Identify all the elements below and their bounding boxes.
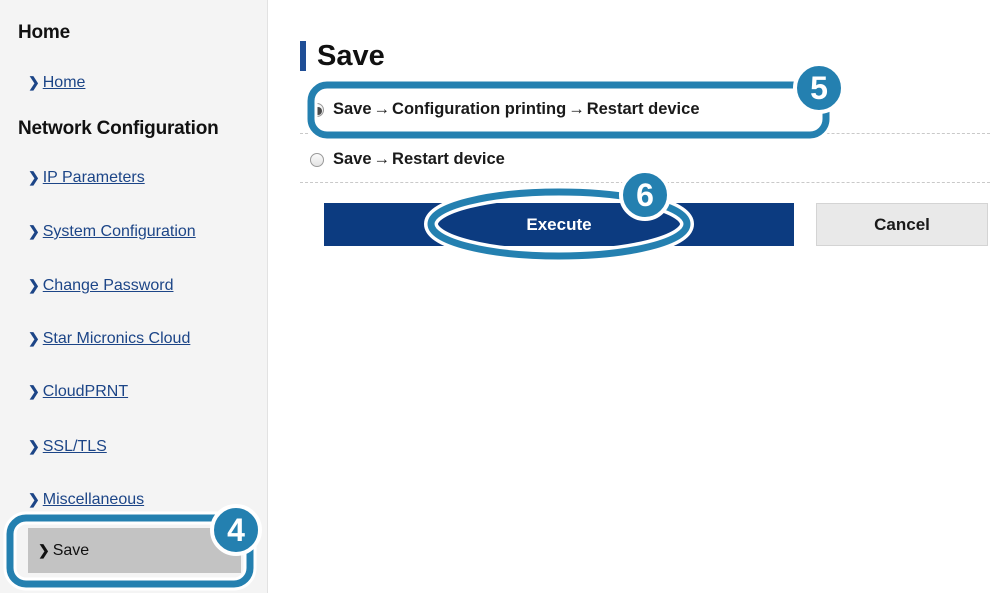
- radio-button-icon[interactable]: [310, 103, 324, 117]
- sidebar-item-label: SSL/TLS: [43, 438, 107, 455]
- sidebar-item-label: Save: [53, 542, 89, 559]
- row-separator: [300, 133, 990, 134]
- sidebar-item-label: Change Password: [43, 277, 174, 294]
- radio-option-save-config-restart[interactable]: Save→Configuration printing→Restart devi…: [310, 100, 700, 119]
- radio-label-part: Restart device: [587, 100, 700, 118]
- sidebar-item-label: System Configuration: [43, 223, 196, 240]
- radio-label-part: Save: [333, 100, 372, 118]
- execute-button[interactable]: Execute: [324, 203, 794, 246]
- arrow-right-icon: →: [372, 150, 393, 168]
- arrow-right-icon: →: [372, 100, 393, 118]
- step-badge-4: 4: [210, 504, 262, 556]
- sidebar-item-ssl-tls[interactable]: ❯SSL/TLS: [28, 436, 107, 457]
- sidebar-heading-home: Home: [18, 22, 70, 44]
- sidebar-item-label: CloudPRNT: [43, 383, 128, 400]
- step-badge-6: 6: [619, 169, 671, 221]
- cancel-button[interactable]: Cancel: [816, 203, 988, 246]
- chevron-right-icon: ❯: [28, 221, 40, 241]
- sidebar-item-star-micronics-cloud[interactable]: ❯Star Micronics Cloud: [28, 328, 190, 349]
- main-content: Save Save→Configuration printing→Restart…: [268, 0, 1000, 593]
- radio-option-save-restart[interactable]: Save→Restart device: [310, 150, 505, 169]
- sidebar-item-system-configuration[interactable]: ❯System Configuration: [28, 221, 196, 242]
- chevron-right-icon: ❯: [28, 436, 40, 456]
- sidebar-item-change-password[interactable]: ❯Change Password: [28, 275, 173, 296]
- step-badge-5: 5: [793, 62, 845, 114]
- arrow-right-icon: →: [566, 100, 587, 118]
- sidebar-item-label: Star Micronics Cloud: [43, 330, 191, 347]
- sidebar-item-cloudprnt[interactable]: ❯CloudPRNT: [28, 381, 128, 402]
- radio-label-part: Restart device: [392, 150, 505, 168]
- page-title-wrap: Save: [300, 22, 385, 91]
- printer-web-config-page: Home ❯Home Network Configuration ❯IP Par…: [0, 0, 1000, 593]
- sidebar-item-label: IP Parameters: [43, 169, 145, 186]
- sidebar-item-ip-parameters[interactable]: ❯IP Parameters: [28, 167, 145, 188]
- chevron-right-icon: ❯: [28, 167, 40, 187]
- radio-label-part: Save: [333, 150, 372, 168]
- chevron-right-icon: ❯: [28, 328, 40, 348]
- radio-option-label: Save→Configuration printing→Restart devi…: [333, 100, 700, 119]
- chevron-right-icon: ❯: [28, 72, 40, 92]
- sidebar-item-miscellaneous[interactable]: ❯Miscellaneous: [28, 489, 144, 510]
- sidebar-item-home[interactable]: ❯Home: [28, 72, 85, 93]
- sidebar-item-label: Home: [43, 74, 86, 91]
- page-title: Save: [317, 41, 385, 71]
- title-accent-bar: [300, 41, 306, 71]
- radio-label-part: Configuration printing: [392, 100, 566, 118]
- radio-option-label: Save→Restart device: [333, 150, 505, 169]
- chevron-right-icon: ❯: [28, 275, 40, 295]
- chevron-right-icon: ❯: [38, 542, 50, 558]
- sidebar-item-save-label-wrap: ❯Save: [38, 540, 89, 561]
- chevron-right-icon: ❯: [28, 489, 40, 509]
- radio-button-icon[interactable]: [310, 153, 324, 167]
- sidebar-heading-network-configuration: Network Configuration: [18, 118, 219, 140]
- chevron-right-icon: ❯: [28, 381, 40, 401]
- sidebar-item-label: Miscellaneous: [43, 491, 144, 508]
